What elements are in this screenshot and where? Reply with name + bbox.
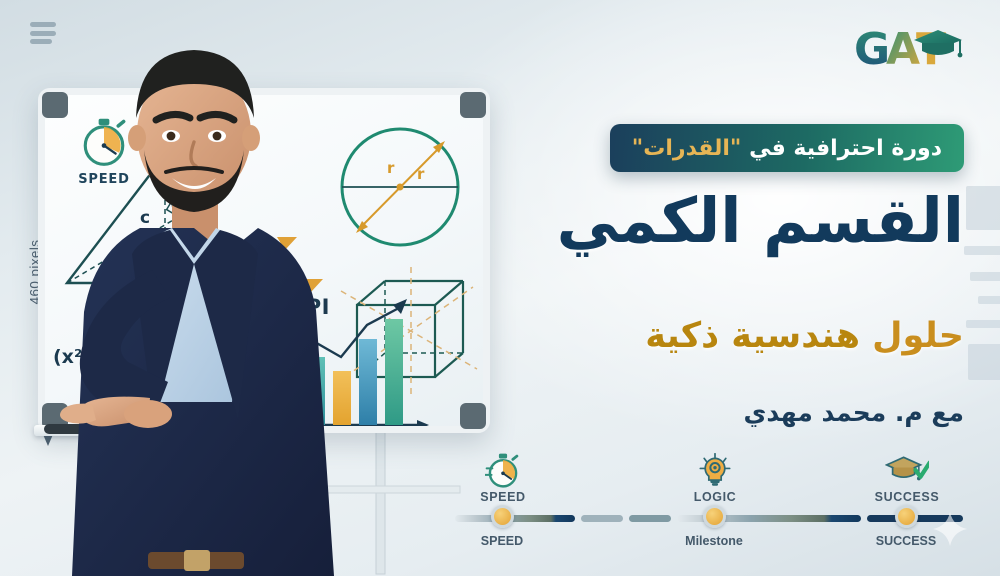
sparkle-icon — [933, 512, 967, 546]
svg-text:A: A — [886, 24, 920, 75]
decor-bar — [966, 320, 1000, 328]
milestone-strip: SPEED LOGIC — [455, 452, 975, 562]
milestone-caption-logic: LOGIC — [655, 490, 775, 504]
decor-bar — [966, 186, 1000, 230]
decor-bar — [964, 246, 1000, 255]
subtitle-light: حلول — [872, 316, 964, 356]
promo-badge: دورة احترافية في "القدرات" — [610, 124, 964, 172]
subtitle-bold: هندسية ذكية — [645, 316, 860, 356]
gat-logo: G A T — [852, 18, 972, 80]
presenter-photo — [44, 22, 374, 576]
progress-dot-speed[interactable] — [491, 505, 514, 528]
progress-label-speed: SPEED — [432, 534, 572, 548]
whiteboard-corner — [460, 403, 486, 429]
milestone-caption-success: SUCCESS — [847, 490, 967, 504]
decor-bar — [968, 344, 1000, 380]
poster-canvas: G A T 460 pixels — [0, 0, 1000, 576]
svg-text:r: r — [417, 165, 425, 183]
milestone-icon-speed: SPEED — [443, 452, 563, 504]
svg-text:G: G — [854, 24, 890, 75]
progress-dot-success[interactable] — [895, 505, 918, 528]
milestone-caption-speed: SPEED — [443, 490, 563, 504]
progress-dot-milestone[interactable] — [703, 505, 726, 528]
decor-bar — [978, 296, 1000, 304]
decor-bar — [970, 272, 1000, 281]
progress-label-milestone: Milestone — [644, 534, 784, 548]
whiteboard-corner — [460, 92, 486, 118]
svg-text:r: r — [387, 159, 395, 177]
stopwatch-icon — [443, 452, 563, 488]
graduation-cap-check-icon — [847, 452, 967, 488]
graduation-cap-icon: G A T — [852, 18, 972, 80]
milestone-icon-success: SUCCESS — [847, 452, 967, 504]
milestone-icon-logic: LOGIC — [655, 452, 775, 504]
presenter-name: مع م. محمد مهدي — [524, 398, 964, 427]
page-title: القسم الكمي — [524, 188, 964, 254]
page-subtitle: حلول هندسية ذكية — [524, 316, 964, 356]
badge-highlight: "القدرات" — [632, 136, 742, 161]
lightbulb-gear-icon — [655, 452, 775, 488]
badge-prefix: دورة احترافية في — [749, 136, 942, 161]
